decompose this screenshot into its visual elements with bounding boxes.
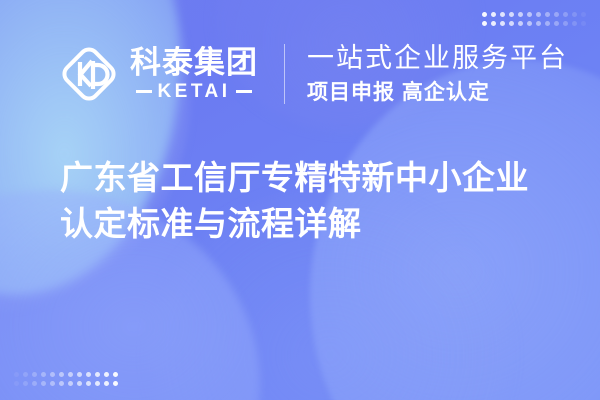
dot bbox=[500, 12, 505, 17]
dot bbox=[563, 12, 568, 17]
dot bbox=[554, 21, 559, 26]
promo-banner: 科泰集团 KETAI 一站式企业服务平台 项目申报 高企认定 广东省工信厅专精特… bbox=[0, 0, 600, 400]
tagline-main: 一站式企业服务平台 bbox=[307, 42, 568, 76]
dot bbox=[41, 372, 46, 377]
dot bbox=[50, 372, 55, 377]
tagline-block: 一站式企业服务平台 项目申报 高企认定 bbox=[307, 42, 568, 106]
dot bbox=[68, 372, 73, 377]
dot-grid-icon-bottom-left bbox=[12, 370, 120, 388]
dot bbox=[86, 372, 91, 377]
dash-bar-icon-left bbox=[136, 90, 152, 93]
dot bbox=[32, 372, 37, 377]
logo-english-row: KETAI bbox=[130, 82, 258, 101]
dot bbox=[581, 21, 586, 26]
dot bbox=[509, 12, 514, 17]
dot bbox=[482, 21, 487, 26]
dot bbox=[68, 381, 73, 386]
banner-header: 科泰集团 KETAI 一站式企业服务平台 项目申报 高企认定 bbox=[60, 38, 568, 110]
dot bbox=[500, 21, 505, 26]
dot bbox=[518, 21, 523, 26]
dot bbox=[23, 372, 28, 377]
dot bbox=[545, 12, 550, 17]
dot bbox=[113, 381, 118, 386]
logo-english-name: KETAI bbox=[157, 82, 230, 101]
dot bbox=[527, 21, 532, 26]
dot bbox=[95, 381, 100, 386]
vertical-divider-icon bbox=[284, 44, 285, 104]
dot bbox=[572, 12, 577, 17]
dot bbox=[14, 372, 19, 377]
dot bbox=[581, 12, 586, 17]
dot bbox=[14, 381, 19, 386]
dot bbox=[104, 372, 109, 377]
dot bbox=[77, 372, 82, 377]
ketai-kd-monogram-icon bbox=[60, 45, 118, 103]
dot bbox=[518, 12, 523, 17]
logo-chinese-name: 科泰集团 bbox=[130, 47, 258, 80]
dot bbox=[536, 12, 541, 17]
dot bbox=[554, 12, 559, 17]
dot bbox=[536, 21, 541, 26]
dot bbox=[95, 372, 100, 377]
dot bbox=[491, 12, 496, 17]
logo-wordmark: 科泰集团 KETAI bbox=[130, 47, 258, 102]
dot bbox=[563, 21, 568, 26]
dot bbox=[59, 372, 64, 377]
dash-bar-icon-right bbox=[236, 90, 252, 93]
dot bbox=[572, 21, 577, 26]
dot bbox=[491, 21, 496, 26]
dot bbox=[113, 372, 118, 377]
tagline-sub: 项目申报 高企认定 bbox=[307, 79, 568, 106]
dot bbox=[41, 381, 46, 386]
dot bbox=[482, 12, 487, 17]
dot bbox=[527, 12, 532, 17]
dot bbox=[32, 381, 37, 386]
dot-grid-icon-top-right bbox=[480, 10, 588, 28]
dot bbox=[23, 381, 28, 386]
dot bbox=[104, 381, 109, 386]
dot bbox=[59, 381, 64, 386]
dot bbox=[77, 381, 82, 386]
dot bbox=[545, 21, 550, 26]
dot bbox=[509, 21, 514, 26]
page-title: 广东省工信厅专精特新中小企业认定标准与流程详解 bbox=[60, 155, 560, 246]
dot bbox=[86, 381, 91, 386]
dot bbox=[50, 381, 55, 386]
